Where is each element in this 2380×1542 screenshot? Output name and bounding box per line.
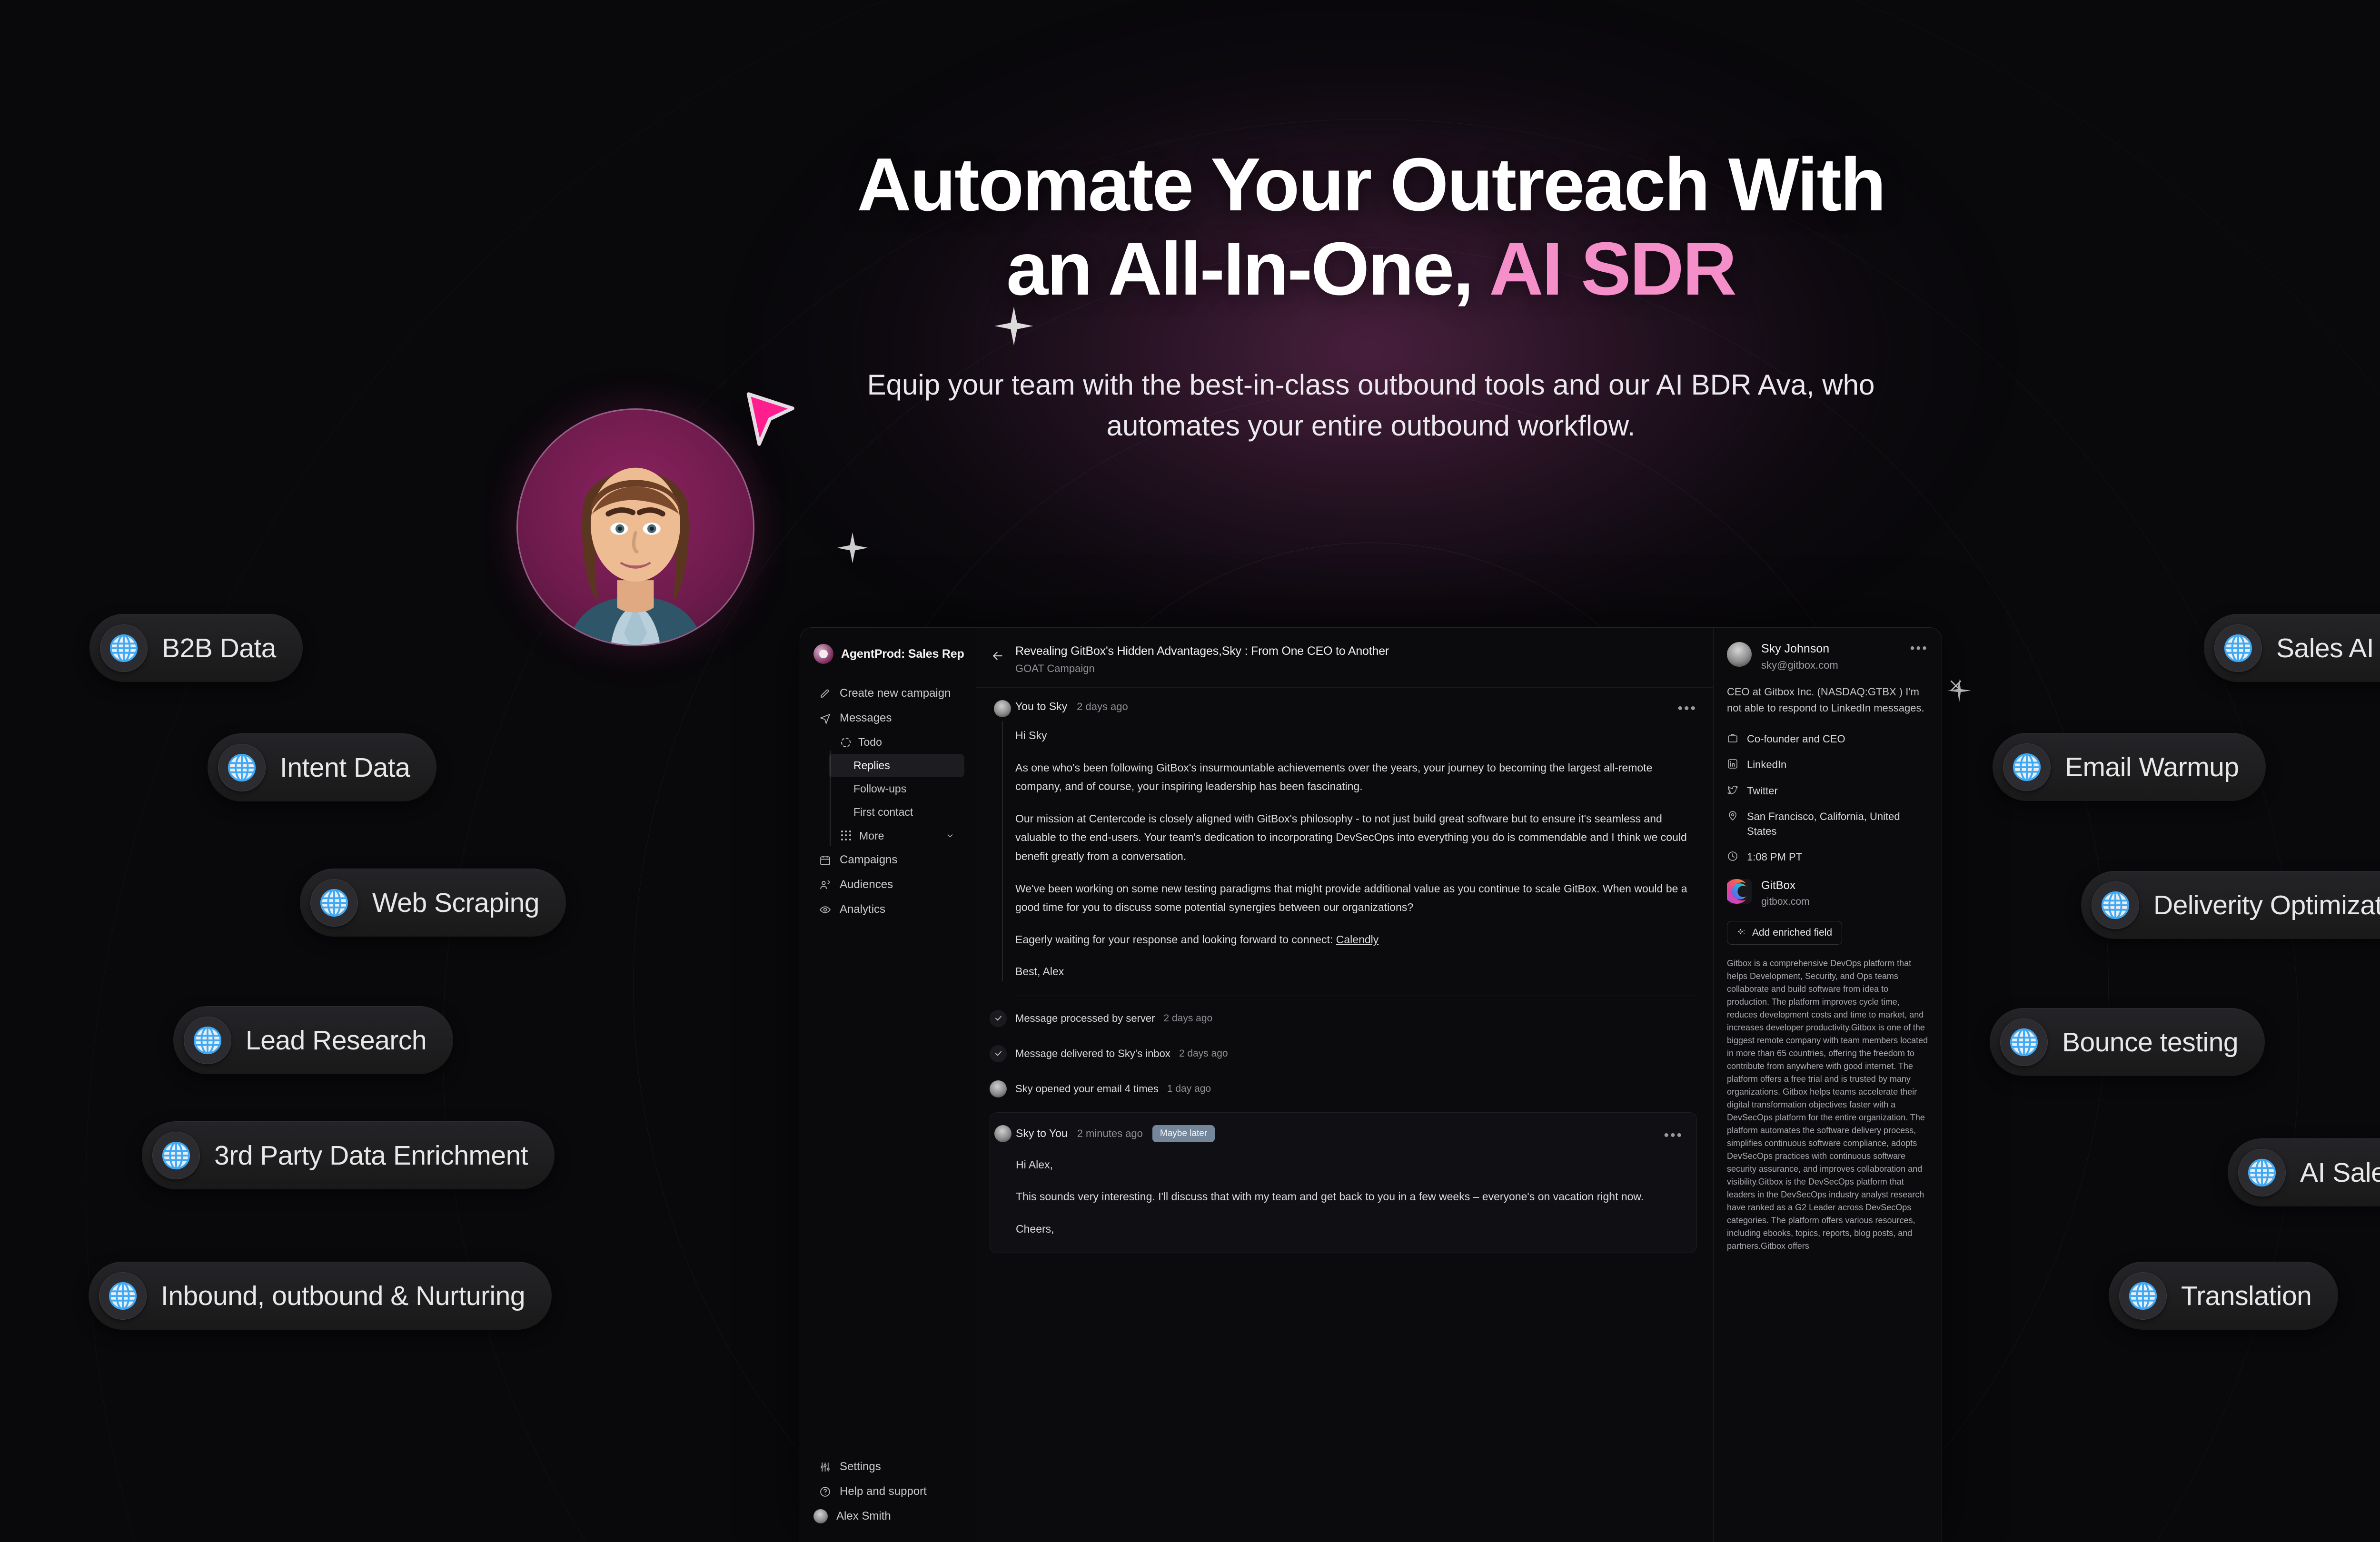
globe-icon [2119,1272,2167,1320]
message-options-icon[interactable]: ••• [1677,701,1697,712]
ava-avatar-group [516,389,764,580]
sparkle-icon [1737,928,1746,938]
page-title: Automate Your Outreach With an All-In-On… [0,143,2380,311]
contact-header: Sky Johnson sky@gitbox.com ••• [1727,642,1928,672]
sidebar-item-label: Settings [840,1460,881,1473]
feature-pill-translation[interactable]: Translation [2109,1262,2338,1330]
contact-fact-location: San Francisco, California, United States [1727,809,1928,839]
avatar-illustration [533,430,738,646]
feature-pill-email-warmup[interactable]: Email Warmup [1993,733,2266,801]
feature-pill-web-scraping[interactable]: Web Scraping [300,869,566,937]
location-icon [1727,810,1738,821]
message-signoff: Cheers, [1016,1220,1683,1239]
feature-pill-bounce-testing[interactable]: Bounce testing [1990,1008,2265,1076]
globe-icon [2000,1018,2048,1066]
feature-pill-b2b-data[interactable]: B2B Data [89,614,303,682]
clock-icon [1727,850,1738,862]
feature-pill-lead-research[interactable]: Lead Research [173,1006,453,1074]
globe-icon [184,1017,231,1064]
contact-facts: Co-founder and CEO LinkedIn Twitter San … [1727,731,1928,864]
gitbox-logo-icon [1727,879,1752,904]
pill-label: Web Scraping [372,887,539,919]
sidebar-footer: Settings Help and support Alex Smith [800,1454,976,1542]
message-greeting: Hi Alex, [1016,1156,1683,1175]
twitter-icon [1727,784,1738,796]
sliders-icon [819,1461,831,1473]
pill-label: Sales AI Brain [2276,633,2380,664]
eye-icon [819,904,831,916]
pill-label: AI Sales Playbook [2300,1157,2380,1188]
sidebar: AgentProd: Sales Rep Create new campaign… [800,628,976,1542]
sidebar-item-settings[interactable]: Settings [806,1454,970,1479]
avatar [516,408,754,646]
tracking-text: Message processed by server [1015,1012,1155,1025]
send-icon [819,712,831,724]
message-body: Hi Alex, This sounds very interesting. I… [1016,1156,1683,1239]
tracking-time: 1 day ago [1167,1083,1211,1095]
avatar [994,700,1011,717]
globe-icon [100,624,148,672]
sidebar-item-more[interactable]: More [829,824,964,848]
hero-title-accent: AI SDR [1489,227,1735,311]
thread-subject: Revealing GitBox's Hidden Advantages,Sky… [1015,644,1389,659]
sidebar-item-label: Help and support [840,1485,927,1498]
sidebar-item-label: More [859,830,884,842]
pill-label: Inbound, outbound & Nurturing [161,1280,525,1312]
cursor-pointer-icon [740,389,797,451]
thread-panel: Revealing GitBox's Hidden Advantages,Sky… [976,628,1713,1542]
feature-pill-intent-data[interactable]: Intent Data [208,733,436,801]
tracking-row: Sky opened your email 4 times 1 day ago [990,1071,1697,1107]
thread-rail-line [1002,721,1003,981]
pill-label: Bounce testing [2062,1027,2238,1058]
sidebar-item-analytics[interactable]: Analytics [806,897,970,922]
company-card[interactable]: GitBox gitbox.com [1727,879,1928,908]
calendly-link[interactable]: Calendly [1336,933,1379,946]
feature-pill-sales-ai-brain[interactable]: Sales AI Brain [2204,614,2380,682]
status-badge: Maybe later [1152,1125,1215,1142]
feature-pill-3rd-party-data-enrichment[interactable]: 3rd Party Data Enrichment [142,1121,555,1189]
globe-icon [99,1272,147,1320]
tracking-text: Sky opened your email 4 times [1015,1083,1159,1095]
contact-fact-role: Co-founder and CEO [1727,731,1928,746]
sidebar-item-help-and-support[interactable]: Help and support [806,1479,970,1504]
sidebar-item-replies[interactable]: Replies [829,754,964,777]
globe-icon [2092,881,2139,929]
message-rail [990,700,1015,981]
users-icon [819,879,831,891]
contact-fact-linkedin[interactable]: LinkedIn [1727,757,1928,772]
contact-email[interactable]: sky@gitbox.com [1761,659,1838,672]
sidebar-item-first-contact[interactable]: First contact [829,801,964,824]
company-name: GitBox [1761,879,1810,892]
sidebar-item-label: Analytics [840,903,885,916]
message-paragraph-1: This sounds very interesting. I'll discu… [1016,1187,1683,1206]
contact-fact-text: LinkedIn [1747,757,1786,772]
linkedin-icon [1727,758,1738,770]
feature-pill-inbound-outbound-nurturing[interactable]: Inbound, outbound & Nurturing [89,1262,552,1330]
sidebar-user-name: Alex Smith [836,1510,891,1523]
agentprod-logo-icon [813,644,833,664]
message-sender: You to Sky [1015,700,1067,713]
add-enriched-field-button[interactable]: Add enriched field [1727,921,1842,945]
avatar [994,1125,1011,1142]
sidebar-item-todo[interactable]: Todo [829,731,964,754]
sidebar-nav: Create new campaign Messages Todo Replie… [800,681,976,922]
message-greeting: Hi Sky [1015,726,1697,745]
sidebar-item-label: Messages [840,712,892,725]
thread-messages: You to Sky 2 days ago ••• Hi Sky As one … [976,688,1713,1542]
contact-bio: CEO at Gitbox Inc. (NASDAQ:GTBX ) I'm no… [1727,684,1928,716]
contact-fact-localtime: 1:08 PM PT [1727,850,1928,864]
message-paragraph-1: As one who's been following GitBox's ins… [1015,759,1697,796]
sparkle-icon-2 [835,531,870,565]
sidebar-item-audiences[interactable]: Audiences [806,872,970,897]
contact-panel: Sky Johnson sky@gitbox.com ••• CEO at Gi… [1713,628,1942,1542]
sidebar-item-follow-ups[interactable]: Follow-ups [829,777,964,801]
feature-pill-ai-sales-playbook[interactable]: AI Sales Playbook [2228,1138,2380,1206]
message-sent: You to Sky 2 days ago ••• Hi Sky As one … [976,688,1713,981]
avatar [813,1509,828,1523]
company-url[interactable]: gitbox.com [1761,896,1810,908]
add-enriched-field-label: Add enriched field [1752,927,1832,939]
thread-campaign: GOAT Campaign [1015,662,1389,675]
dashed-circle-icon [841,738,851,747]
feature-pill-deliverity-optimization[interactable]: Deliverity Optimization [2081,871,2380,939]
message-paragraph-3: We've been working on some new testing p… [1015,880,1697,917]
message-timestamp: 2 minutes ago [1077,1127,1143,1140]
sidebar-item-campaigns[interactable]: Campaigns [806,848,970,872]
message-rail [990,1125,1016,1239]
globe-icon [152,1132,200,1179]
avatar [1727,642,1752,667]
sidebar-item-label: Follow-ups [853,782,906,795]
pill-label: 3rd Party Data Enrichment [214,1140,528,1171]
contact-fact-text: Co-founder and CEO [1747,731,1845,746]
tracking-text: Message delivered to Sky's inbox [1015,1048,1170,1060]
message-timestamp: 2 days ago [1077,701,1128,713]
app-brand-name: AgentProd: Sales Rep [841,647,964,661]
globe-icon [310,879,358,927]
tracking-row: Message delivered to Sky's inbox 2 days … [990,1036,1697,1071]
pill-label: Translation [2181,1280,2311,1312]
pill-label: Email Warmup [2065,751,2239,783]
pill-label: Lead Research [246,1025,426,1056]
message-cta-text: Eagerly waiting for your response and lo… [1015,933,1336,946]
message-body: Hi Sky As one who's been following GitBo… [1015,726,1697,981]
sidebar-item-label: Replies [853,759,890,772]
message-sender: Sky to You [1016,1127,1068,1140]
sidebar-item-label: Create new campaign [840,687,951,700]
chevron-down-icon [945,831,955,840]
sidebar-item-label: Todo [858,736,882,749]
globe-icon [2238,1149,2286,1196]
sidebar-item-messages[interactable]: Messages [806,706,970,731]
check-icon [990,1045,1007,1062]
app-window: AgentProd: Sales Rep Create new campaign… [800,627,1942,1542]
edit-icon [819,688,831,700]
pill-label: Deliverity Optimization [2153,890,2380,921]
app-brand[interactable]: AgentProd: Sales Rep [800,639,976,664]
check-icon [990,1010,1007,1027]
hero-title-line1: Automate Your Outreach With [857,143,1884,227]
pill-label: Intent Data [280,752,410,783]
tracking-time: 2 days ago [1163,1013,1212,1024]
briefcase-icon [1727,732,1738,744]
sidebar-item-label: First contact [853,806,913,819]
grid-dots-icon [841,830,852,841]
sidebar-user-profile[interactable]: Alex Smith [800,1504,976,1529]
sidebar-item-label: Audiences [840,878,893,891]
thread-header: Revealing GitBox's Hidden Advantages,Sky… [976,628,1713,688]
contact-fact-text: 1:08 PM PT [1747,850,1802,864]
help-circle-icon [819,1486,831,1498]
tracking-list: Message processed by server 2 days ago M… [976,996,1713,1107]
message-reply: Sky to You 2 minutes ago Maybe later •••… [990,1112,1697,1254]
globe-icon [218,744,266,791]
sidebar-submenu: Todo Replies Follow-ups First contact Mo… [829,731,976,848]
company-description: Gitbox is a comprehensive DevOps platfor… [1727,957,1928,1253]
tracking-time: 2 days ago [1179,1048,1228,1059]
sidebar-item-create-new-campaign[interactable]: Create new campaign [806,681,970,706]
contact-options-icon[interactable]: ••• [1910,642,1928,652]
hero-section: Automate Your Outreach With an All-In-On… [0,143,2380,447]
hero-title-line2: an All-In-One, [1006,227,1489,311]
pill-label: B2B Data [162,633,276,664]
contact-fact-twitter[interactable]: Twitter [1727,783,1928,798]
sidebar-item-label: Campaigns [840,853,897,867]
message-paragraph-2: Our mission at Centercode is closely ali… [1015,810,1697,866]
tracking-row: Message processed by server 2 days ago [990,1001,1697,1036]
avatar [990,1080,1007,1097]
contact-name: Sky Johnson [1761,642,1838,656]
contact-fact-text: Twitter [1747,783,1778,798]
message-paragraph-4: Eagerly waiting for your response and lo… [1015,930,1697,949]
message-signoff: Best, Alex [1015,962,1697,981]
globe-icon [2003,743,2051,791]
message-options-icon[interactable]: ••• [1664,1128,1683,1139]
hero-subtitle: Equip your team with the best-in-class o… [852,365,1890,447]
calendar-icon [819,854,831,866]
back-arrow-icon[interactable] [991,649,1005,663]
globe-icon [2214,624,2262,672]
contact-fact-text: San Francisco, California, United States [1747,809,1928,839]
close-icon[interactable] [1948,678,1964,694]
